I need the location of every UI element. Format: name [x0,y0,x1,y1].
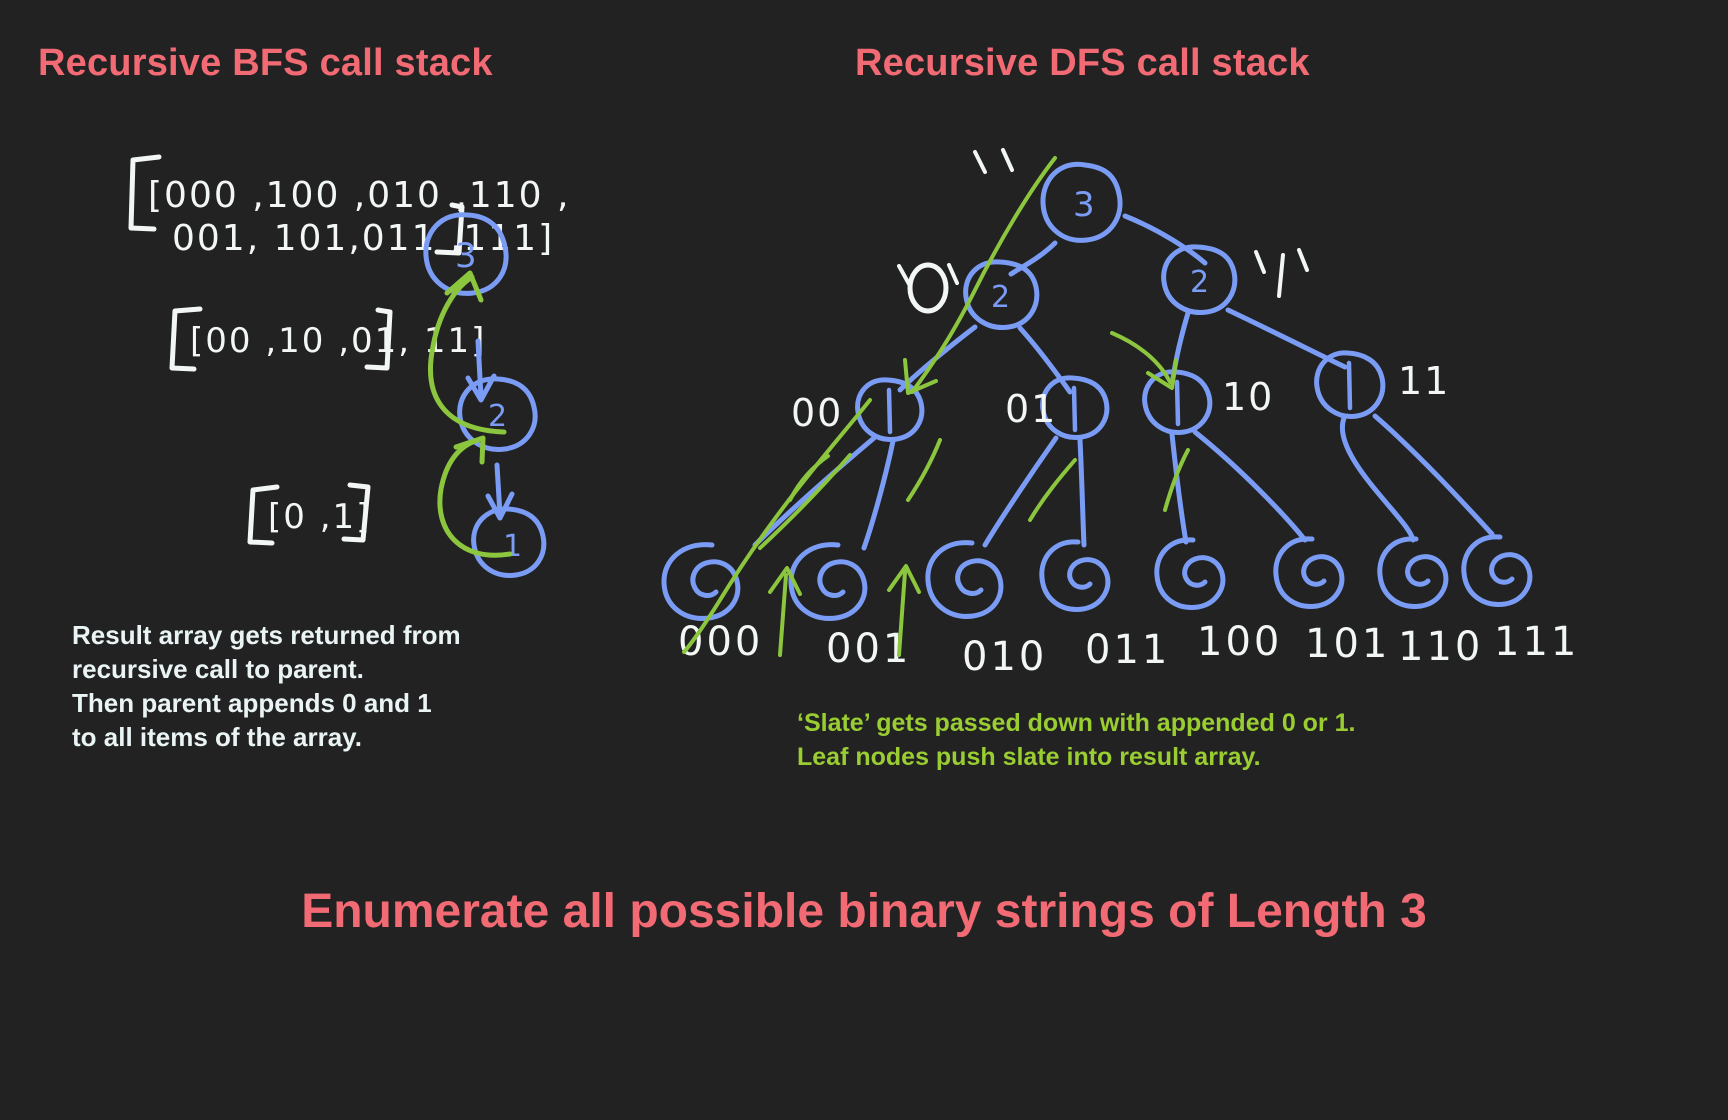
dfs-edge-00-b [864,441,893,548]
dfs-edge-11-a [1342,418,1413,540]
bfs-array-bottom: [0 ,1] [250,485,371,543]
dfs-explanation-note: ‘Slate’ gets passed down with appended 0… [797,706,1355,774]
dfs-l1-right-slate [1256,250,1307,296]
dfs-leaf-label-101: 101 [1305,621,1390,667]
dfs-edge-01-b [1080,440,1084,545]
dfs-leaf-101 [1276,539,1342,607]
bfs-node-1-label: 1 [503,529,522,564]
dfs-leaf-001 [791,545,865,619]
dfs-slate-arrow-mid-right [1112,333,1176,388]
dfs-leaf-label-100: 100 [1197,619,1282,665]
dfs-edge-root-right [1125,216,1205,263]
dfs-leaf-label-111: 111 [1494,619,1579,665]
dfs-leaf-label-011: 011 [1085,627,1170,673]
dfs-edge-11-b [1375,416,1492,534]
bfs-array-top-line1: [000 ,100 ,010 ,110 , [148,175,570,216]
diagram-drawing: [000 ,100 ,010 ,110 , 001, 101,011 ,111]… [0,0,1728,1120]
dfs-node-l2-10-label: 10 [1222,375,1274,419]
dfs-leaf-label-110: 110 [1398,624,1483,670]
main-title: Enumerate all possible binary strings of… [301,884,1427,939]
bfs-array-mid-line1: [00 ,10 ,01, 11] [190,321,486,361]
whiteboard-canvas: Recursive BFS call stack Recursive DFS c… [0,0,1728,1120]
dfs-leaf-010 [928,543,1001,617]
bfs-node-2: 2 [460,379,535,450]
dfs-slate-arrow-right-curve [1030,450,1188,520]
dfs-edge-10-b [1195,432,1305,540]
dfs-root-label: 3 [1073,185,1095,225]
dfs-node-l2-11-label: 11 [1398,359,1450,403]
dfs-node-l2-01-label: 01 [1005,387,1057,431]
dfs-node-l2-00-label: 00 [791,391,843,435]
dfs-edge-01-a [985,438,1056,545]
dfs-edge-root-left [1011,243,1055,274]
dfs-leaf-110 [1380,539,1446,607]
dfs-leaf-label-010: 010 [962,634,1047,680]
dfs-slate-arrow-leaf-1 [770,568,800,655]
dfs-root-slate-mark [975,150,1012,172]
dfs-leaf-100 [1157,540,1223,608]
dfs-node-l2-01: 01 [1005,378,1107,438]
dfs-edge-l1l-b [1020,328,1070,392]
dfs-leaf-111 [1464,537,1530,605]
dfs-edge-10-a [1172,434,1186,542]
dfs-leaf-000 [664,545,738,619]
dfs-node-root-3: 3 [1043,164,1120,240]
bfs-node-1: 1 [474,509,544,575]
bfs-explanation-note: Result array gets returned from recursiv… [72,618,461,754]
dfs-slate-arrow-left-branch [760,440,940,548]
bfs-array-bottom-line1: [0 ,1] [268,497,371,537]
bfs-node-3-label: 3 [455,236,477,276]
dfs-node-l1-left-label: 2 [991,280,1010,315]
dfs-leaf-011 [1042,542,1108,610]
dfs-l1-left-slate [899,265,957,311]
dfs-node-l1-left: 2 [966,262,1037,328]
bfs-array-top-line2: 001, 101,011 ,111] [172,218,554,259]
dfs-node-l1-right-label: 2 [1190,265,1209,300]
